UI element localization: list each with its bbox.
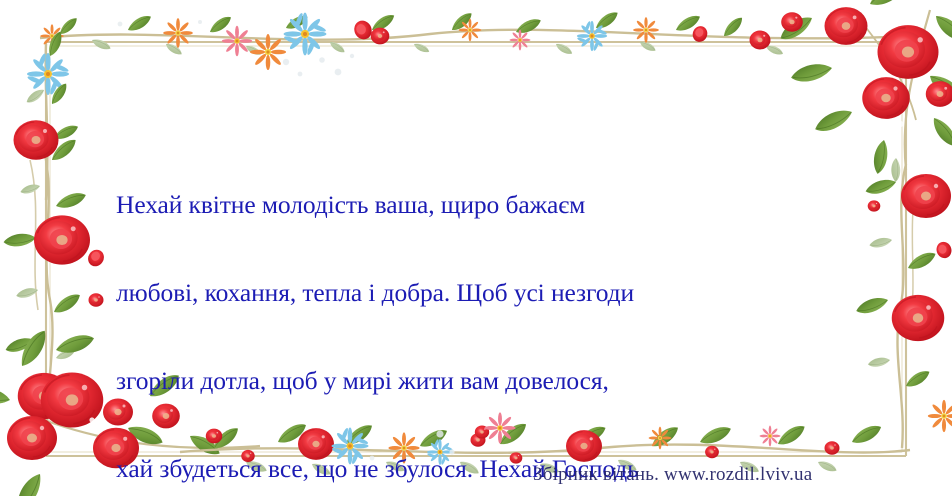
- greeting-card: Нехай квітне молодість ваша, щиро бажаєм…: [0, 0, 952, 496]
- greeting-message: Нехай квітне молодість ваша, щиро бажаєм…: [116, 131, 806, 496]
- top-left-corner-decoration: [24, 30, 80, 200]
- top-garland-decoration: [40, 9, 912, 76]
- greeting-line: згоріли дотла, щоб у мирі жити вам довел…: [116, 366, 806, 395]
- right-garland-decoration: [854, 164, 952, 448]
- greeting-line: любові, кохання, тепла і добра. Щоб усі …: [116, 278, 806, 307]
- greeting-line: Нехай квітне молодість ваша, щиро бажаєм: [116, 190, 806, 219]
- source-watermark: Збірник вітань. www.rozdil.lviv.ua: [533, 463, 943, 487]
- left-garland-decoration: [3, 120, 107, 440]
